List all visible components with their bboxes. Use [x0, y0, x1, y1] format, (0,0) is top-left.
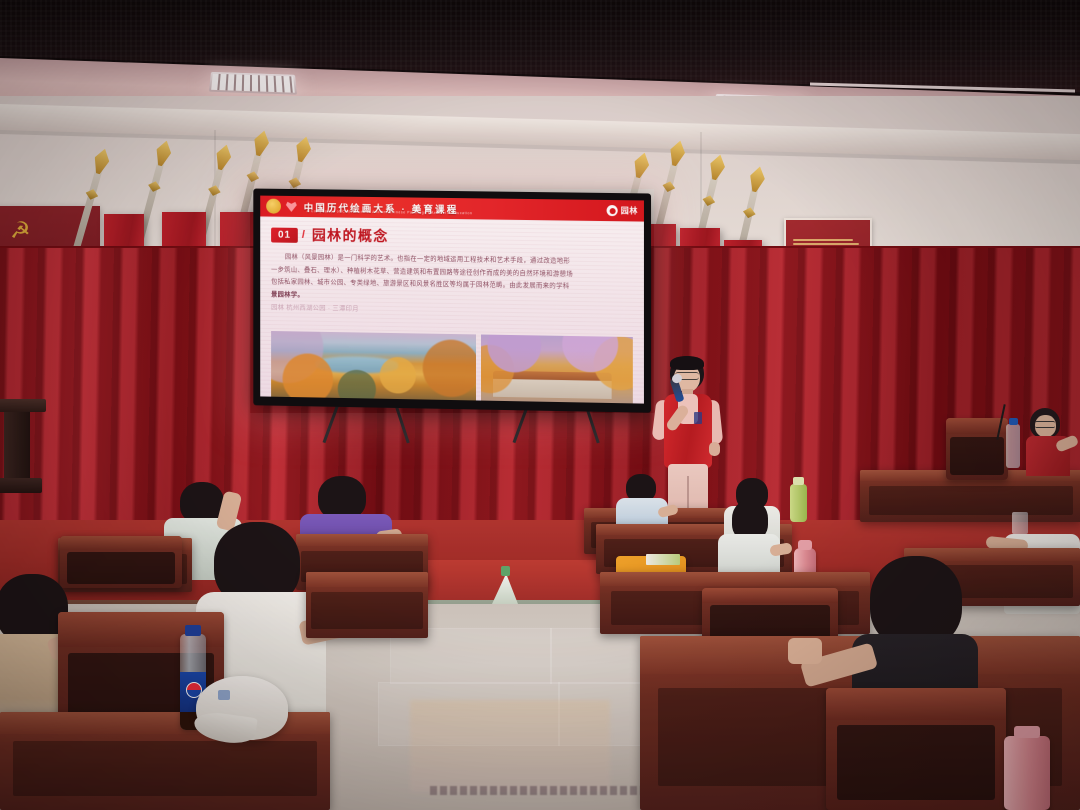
chair-back-pad [837, 725, 995, 801]
student-blue-stripe-tee [614, 474, 668, 530]
desk-surface [306, 572, 428, 587]
chair-top-rail [826, 688, 1006, 720]
pink-water-bottle [1004, 736, 1050, 810]
slide-content: 中国历代绘画大系 · 美育课程 园林 A Compilation of Coll… [260, 196, 644, 404]
seated-staff-member [1022, 408, 1078, 488]
bottle-cap [1009, 418, 1018, 425]
student-hands [788, 638, 822, 664]
notebook [646, 554, 680, 565]
classroom-photo-scene: ☭ [0, 0, 1080, 810]
presenter-right-hand [709, 442, 720, 456]
brand-logo: 园林 [607, 205, 638, 216]
desk-front-panel [869, 486, 1073, 515]
slide-body: 01 / 园林的概念 园林（风景园林）是一门科学的艺术。也指在一定的地域运用工程… [260, 216, 644, 403]
presenter-fringe [670, 356, 704, 370]
white-cap [196, 676, 288, 740]
table-row [306, 572, 428, 638]
chair [826, 688, 1006, 810]
wooden-lectern [0, 399, 46, 493]
led-presentation-screen[interactable]: 中国历代绘画大系 · 美育课程 园林 A Compilation of Coll… [253, 189, 651, 413]
lectern-column [4, 412, 30, 478]
lectern-base [0, 478, 42, 493]
water-bottle [1006, 424, 1020, 468]
megaphone-horn [492, 576, 518, 604]
section-title: 园林的概念 [312, 225, 389, 246]
chair-back-pad [710, 605, 830, 640]
hammer-sickle-icon: ☭ [10, 218, 34, 242]
bottle-cap [1014, 726, 1040, 738]
pavilion-blossom-photo [481, 335, 633, 404]
lectern-top [0, 399, 46, 412]
slide-title-row: 01 / 园林的概念 [271, 225, 633, 250]
vest-badge [694, 412, 702, 424]
ceiling-light-fixture [209, 72, 297, 95]
slide-image-row [271, 331, 633, 403]
west-lake-autumn-photo [271, 331, 476, 400]
bottle-cap [798, 540, 812, 550]
poster-text-line [793, 243, 859, 245]
megaphone-cap [501, 566, 510, 576]
screen-floor-reflection [410, 700, 610, 792]
chair-top-rail [702, 588, 838, 603]
heart-icon [286, 201, 297, 212]
course-badge-icon [266, 199, 281, 214]
bottle-cap [185, 625, 201, 636]
logo-text: 园林 [621, 205, 638, 216]
poster-text-line [793, 239, 853, 241]
section-number-chip: 01 [271, 227, 298, 242]
chair-back-pad [950, 437, 1005, 475]
desk-front-panel [311, 592, 423, 629]
floor-caption-reflection [430, 786, 650, 795]
glasses-icon [1035, 421, 1055, 428]
cap-logo-icon [218, 690, 230, 700]
section-separator: / [302, 229, 305, 241]
desk-surface [600, 572, 870, 586]
green-thermos [790, 484, 807, 522]
desk-front-panel [13, 741, 317, 796]
megaphone [492, 566, 518, 604]
logo-mark-icon [607, 205, 618, 216]
chair-top-rail [60, 536, 182, 550]
thermos-cap [793, 477, 804, 485]
